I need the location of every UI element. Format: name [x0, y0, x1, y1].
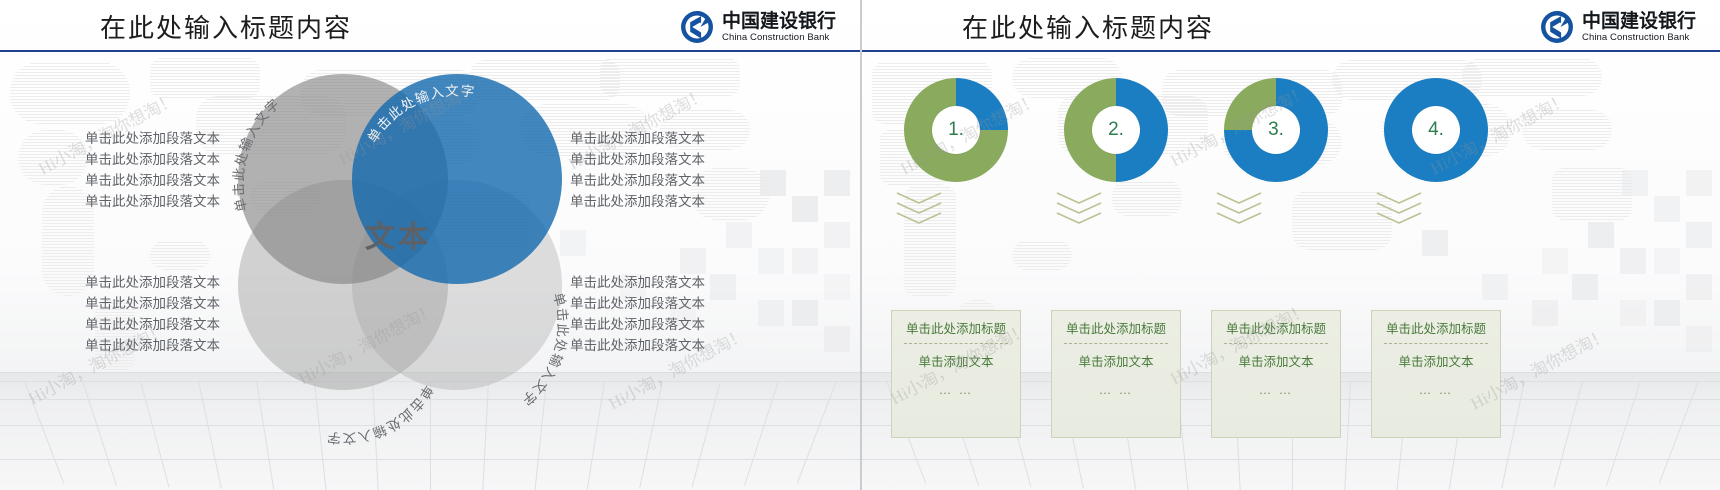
card-title: 单击此处添加标题: [1378, 320, 1494, 338]
venn-label-bottom-right: 单击此处输入文字: [518, 291, 570, 409]
card-dots: … …: [1058, 383, 1174, 397]
paragraph-line: 单击此处添加段落文本: [570, 128, 705, 149]
card-dots: … …: [1218, 383, 1334, 397]
donut-card-2: 2.单击此处添加标题单击添加文本… …: [1056, 78, 1176, 231]
card-body: 单击添加文本: [1378, 353, 1494, 371]
venn-arc-labels: 单击此处输入文字 单击此处输入文字 单击此处输入文字 单击此处输入文字: [232, 68, 572, 398]
paragraph-line: 单击此处添加段落文本: [85, 149, 220, 170]
card-divider: [1384, 343, 1488, 344]
ccb-logo-text: 中国建设银行 China Construction Bank: [722, 12, 836, 43]
paragraph-block-bottom-left[interactable]: 单击此处添加段落文本单击此处添加段落文本单击此处添加段落文本单击此处添加段落文本: [85, 272, 220, 356]
info-card-1[interactable]: 单击此处添加标题单击添加文本… …: [891, 310, 1021, 438]
paragraph-line: 单击此处添加段落文本: [85, 314, 220, 335]
logo-cn: 中国建设银行: [722, 12, 836, 31]
donut-center-number: 2.: [1092, 106, 1140, 154]
ccb-logo-text: 中国建设银行 China Construction Bank: [1582, 12, 1696, 43]
presentation-stage: 在此处输入标题内容 中国建设银行 China Construction Bank: [0, 0, 1720, 490]
page-title: 在此处输入标题内容: [100, 8, 352, 45]
slide-venn: 在此处输入标题内容 中国建设银行 China Construction Bank: [0, 0, 860, 490]
venn-label-top-right: 单击此处输入文字: [365, 83, 477, 145]
paragraph-line: 单击此处添加段落文本: [85, 191, 220, 212]
paragraph-line: 单击此处添加段落文本: [570, 149, 705, 170]
card-body: 单击添加文本: [1218, 353, 1334, 371]
chevron-down-icon: [1056, 192, 1102, 226]
chevron-down-icon: [1216, 192, 1262, 226]
logo-en: China Construction Bank: [722, 33, 836, 43]
info-card-3[interactable]: 单击此处添加标题单击添加文本… …: [1211, 310, 1341, 438]
donut-chart-3[interactable]: 3.: [1224, 78, 1328, 182]
slide-header: 在此处输入标题内容 中国建设银行 China Construction Bank: [0, 0, 860, 52]
donut-center-number: 1.: [932, 106, 980, 154]
paragraph-line: 单击此处添加段落文本: [570, 335, 705, 356]
logo-cn: 中国建设银行: [1582, 12, 1696, 31]
card-dots: … …: [898, 383, 1014, 397]
card-title: 单击此处添加标题: [898, 320, 1014, 338]
paragraph-line: 单击此处添加段落文本: [85, 335, 220, 356]
card-body: 单击添加文本: [1058, 353, 1174, 371]
ccb-logo-icon: [680, 10, 714, 44]
paragraph-line: 单击此处添加段落文本: [570, 170, 705, 191]
chevron-down-icon: [896, 192, 942, 226]
chevron-down-icon: [1376, 192, 1422, 226]
card-body: 单击添加文本: [898, 353, 1014, 371]
donut-center-number: 4.: [1412, 106, 1460, 154]
page-title: 在此处输入标题内容: [962, 8, 1214, 45]
donut-card-3: 3.单击此处添加标题单击添加文本… …: [1216, 78, 1336, 231]
paragraph-line: 单击此处添加段落文本: [570, 314, 705, 335]
donut-chart-1[interactable]: 1.: [904, 78, 1008, 182]
paragraph-line: 单击此处添加段落文本: [570, 293, 705, 314]
ccb-logo-icon: [1540, 10, 1574, 44]
donut-card-1: 1.单击此处添加标题单击添加文本… …: [896, 78, 1016, 231]
info-card-4[interactable]: 单击此处添加标题单击添加文本… …: [1371, 310, 1501, 438]
paragraph-line: 单击此处添加段落文本: [570, 272, 705, 293]
header-rule: [0, 50, 860, 52]
info-card-2[interactable]: 单击此处添加标题单击添加文本… …: [1051, 310, 1181, 438]
paragraph-line: 单击此处添加段落文本: [85, 128, 220, 149]
slide-donuts: 在此处输入标题内容 中国建设银行 China Construction Bank: [860, 0, 1720, 490]
ccb-logo: 中国建设银行 China Construction Bank: [1540, 8, 1696, 46]
donut-chart-2[interactable]: 2.: [1064, 78, 1168, 182]
paragraph-block-bottom-right[interactable]: 单击此处添加段落文本单击此处添加段落文本单击此处添加段落文本单击此处添加段落文本: [570, 272, 705, 356]
card-title: 单击此处添加标题: [1058, 320, 1174, 338]
slide-header: 在此处输入标题内容 中国建设银行 China Construction Bank: [862, 0, 1720, 52]
card-divider: [904, 343, 1008, 344]
venn-diagram: 文本 单击此处输入文字 单击此处输入文字 单击此处输入文字: [232, 68, 572, 398]
venn-label-top-left: 单击此处输入文字: [231, 96, 283, 213]
donut-card-4: 4.单击此处添加标题单击添加文本… …: [1376, 78, 1496, 231]
paragraph-line: 单击此处添加段落文本: [85, 170, 220, 191]
card-divider: [1064, 343, 1168, 344]
card-divider: [1224, 343, 1328, 344]
ccb-logo: 中国建设银行 China Construction Bank: [680, 8, 836, 46]
card-title: 单击此处添加标题: [1218, 320, 1334, 338]
header-rule: [862, 50, 1720, 52]
paragraph-line: 单击此处添加段落文本: [85, 293, 220, 314]
card-dots: … …: [1378, 383, 1494, 397]
paragraph-line: 单击此处添加段落文本: [570, 191, 705, 212]
donut-center-number: 3.: [1252, 106, 1300, 154]
logo-en: China Construction Bank: [1582, 33, 1696, 43]
paragraph-line: 单击此处添加段落文本: [85, 272, 220, 293]
paragraph-block-top-left[interactable]: 单击此处添加段落文本单击此处添加段落文本单击此处添加段落文本单击此处添加段落文本: [85, 128, 220, 212]
donut-chart-4[interactable]: 4.: [1384, 78, 1488, 182]
paragraph-block-top-right[interactable]: 单击此处添加段落文本单击此处添加段落文本单击此处添加段落文本单击此处添加段落文本: [570, 128, 705, 212]
